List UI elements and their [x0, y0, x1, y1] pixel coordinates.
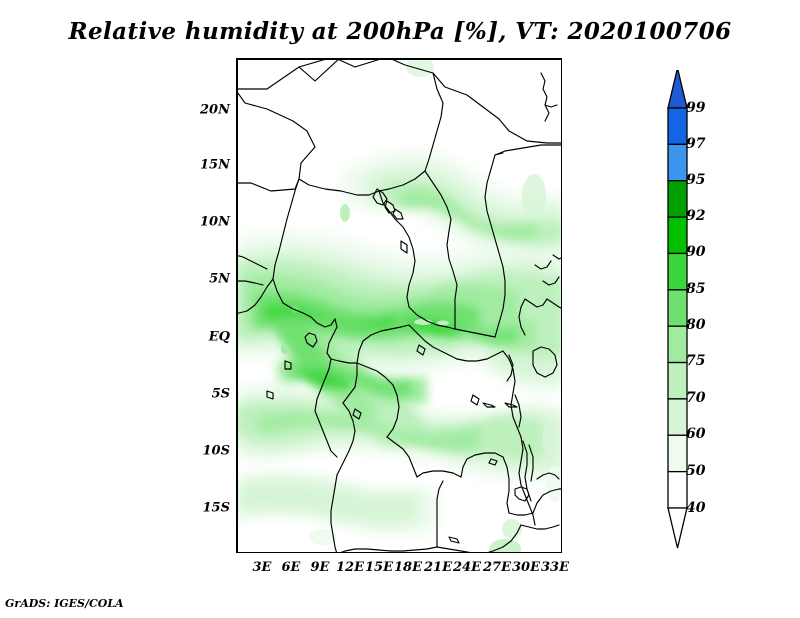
x-tick-label-6e: 6E [282, 560, 301, 575]
x-axis-labels: 3E6E9E12E15E18E21E24E27E30E33E [0, 560, 800, 582]
y-tick-label-10n: 10N [200, 215, 230, 230]
x-tick-label-21e: 21E [424, 560, 452, 575]
grads-figure: Relative humidity at 200hPa [%], VT: 202… [0, 0, 800, 618]
map-svg [237, 59, 562, 553]
x-tick-label-12e: 12E [336, 560, 364, 575]
colorbar-band-6 [668, 326, 687, 362]
y-tick-label-15s: 15S [203, 501, 230, 516]
colorbar-tick-70: 70 [686, 390, 705, 406]
y-tick-label-20n: 20N [200, 103, 230, 118]
colorbar-tick-90: 90 [686, 244, 705, 260]
colorbar-band-2 [668, 181, 687, 217]
colorbar-tick-60: 60 [686, 426, 705, 442]
colorbar-tick-50: 50 [686, 463, 705, 479]
y-tick-label-5n: 5N [209, 272, 230, 287]
colorbar: 999795929085807570605040 [660, 70, 780, 560]
colorbar-tick-95: 95 [686, 172, 705, 188]
y-tick-label-15n: 15N [200, 158, 230, 173]
y-tick-label-10s: 10S [203, 444, 230, 459]
x-tick-label-15e: 15E [365, 560, 393, 575]
colorbar-cap-above-max [668, 70, 687, 108]
map-plot-area [236, 58, 562, 553]
colorbar-band-7 [668, 363, 687, 399]
colorbar-band-9 [668, 435, 687, 471]
colorbar-tick-85: 85 [686, 281, 705, 297]
colorbar-cap-below-min [668, 508, 687, 548]
colorbar-tick-75: 75 [686, 353, 705, 369]
colorbar-bands [668, 70, 687, 548]
colorbar-band-3 [668, 217, 687, 253]
x-tick-label-30e: 30E [512, 560, 540, 575]
footer-attribution: GrADS: IGES/COLA [5, 597, 124, 610]
x-tick-label-18e: 18E [394, 560, 422, 575]
colorbar-tick-92: 92 [686, 208, 705, 224]
colorbar-band-0 [668, 108, 687, 144]
page-title: Relative humidity at 200hPa [%], VT: 202… [0, 18, 800, 45]
colorbar-band-8 [668, 399, 687, 435]
x-tick-label-3e: 3E [253, 560, 272, 575]
colorbar-band-1 [668, 144, 687, 180]
x-tick-label-9e: 9E [311, 560, 330, 575]
colorbar-tick-97: 97 [686, 136, 705, 152]
colorbar-band-10 [668, 472, 687, 508]
colorbar-tick-99: 99 [686, 100, 705, 116]
y-axis-labels: 20N15N10N5NEQ5S10S15S [180, 0, 230, 618]
colorbar-band-4 [668, 253, 687, 289]
colorbar-band-5 [668, 290, 687, 326]
x-tick-label-33e: 33E [541, 560, 569, 575]
colorbar-svg [660, 70, 780, 560]
colorbar-tick-80: 80 [686, 317, 705, 333]
y-tick-label-eq: EQ [209, 330, 230, 345]
x-tick-label-24e: 24E [453, 560, 481, 575]
y-tick-label-5s: 5S [212, 387, 230, 402]
colorbar-tick-40: 40 [686, 500, 705, 516]
x-tick-label-27e: 27E [483, 560, 511, 575]
